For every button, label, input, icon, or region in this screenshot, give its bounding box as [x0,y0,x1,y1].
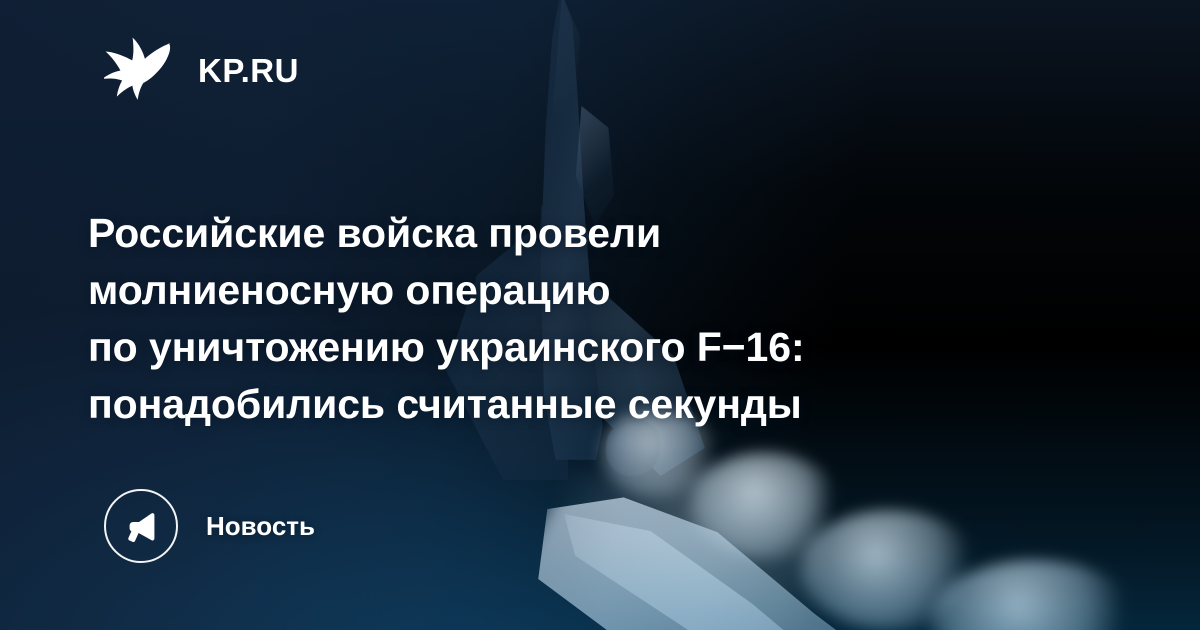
headline-line-4: понадобились считанные секунды [88,376,988,433]
brand-logo[interactable]: KP.RU [104,34,299,106]
headline-line-3: по уничтожению украинского F−16: [88,319,988,376]
brand-name-label: KP.RU [198,54,299,87]
badge-label: Новость [206,513,315,539]
headline-line-2: молниеносную операцию [88,262,988,319]
swallow-bird-icon [104,34,176,106]
category-badge[interactable]: Новость [104,489,315,563]
social-share-card: KP.RU Российские войска провели молниено… [0,0,1200,630]
headline-line-1: Российские войска провели [88,205,988,262]
badge-circle [104,489,178,563]
card-content: KP.RU Российские войска провели молниено… [0,0,1200,630]
headline: Российские войска провели молниеносную о… [88,205,988,433]
megaphone-icon [123,508,159,544]
